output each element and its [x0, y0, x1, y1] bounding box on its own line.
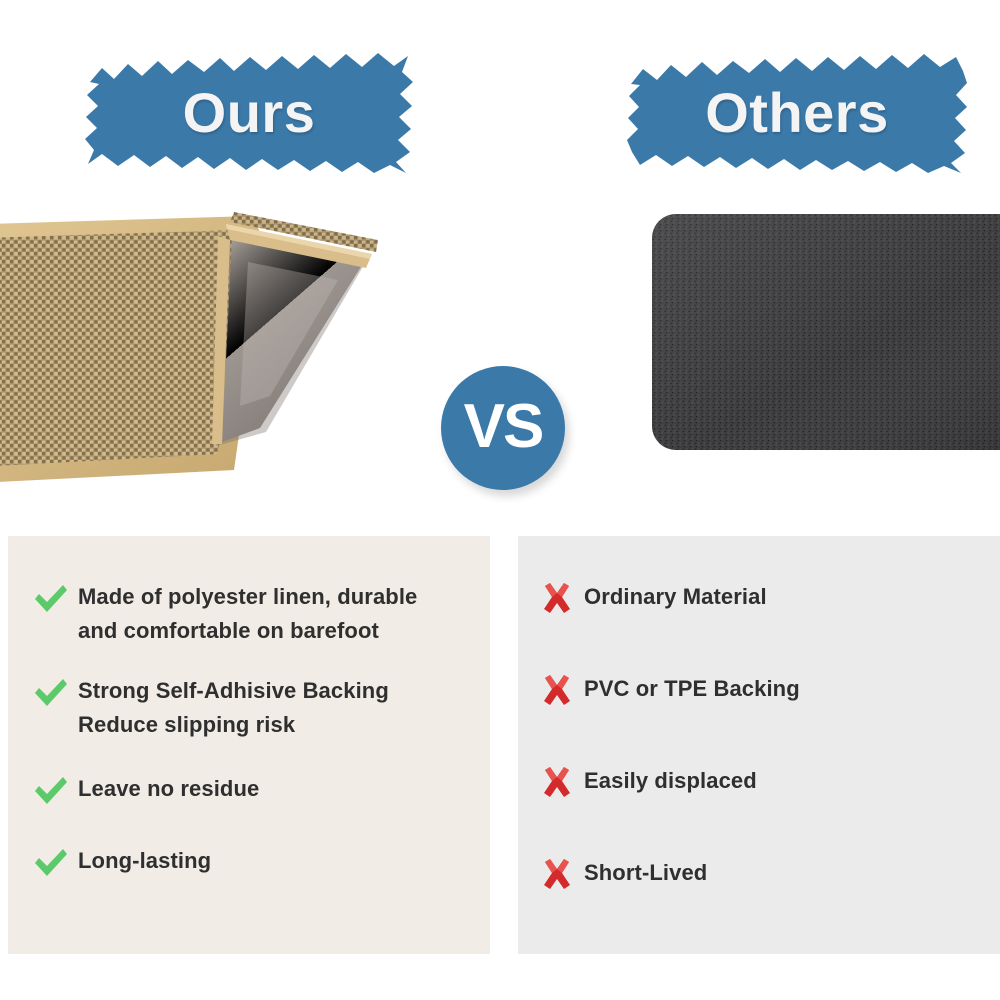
list-item: PVC or TPE Backing [538, 672, 976, 708]
comparison-infographic: Ours Others [0, 0, 1000, 1000]
check-icon [32, 774, 70, 808]
feature-list-others: Ordinary Material PVC or TPE Backing [538, 580, 976, 892]
cross-icon [538, 674, 576, 708]
cross-icon [538, 582, 576, 616]
feature-text: PVC or TPE Backing [584, 672, 800, 706]
product-image-others [652, 214, 1000, 450]
cross-icon [538, 858, 576, 892]
list-item: Ordinary Material [538, 580, 976, 616]
list-item: Easily displaced [538, 764, 976, 800]
banner-ours-label: Ours [183, 85, 316, 141]
banner-ours: Ours [84, 52, 414, 174]
list-item: Leave no residue [32, 772, 466, 808]
list-item: Strong Self-Adhisive Backing Reduce slip… [32, 674, 466, 742]
vs-badge-label: VS [464, 396, 543, 458]
product-image-ours [0, 196, 380, 488]
feature-text: Easily displaced [584, 764, 757, 798]
features-panel-ours: Made of polyester linen, durable and com… [8, 536, 490, 954]
feature-text: Ordinary Material [584, 580, 767, 614]
feature-text: Made of polyester linen, durable and com… [78, 580, 417, 648]
feature-list-ours: Made of polyester linen, durable and com… [32, 580, 466, 880]
features-panel-others: Ordinary Material PVC or TPE Backing [518, 536, 1000, 954]
check-icon [32, 676, 70, 710]
feature-text: Strong Self-Adhisive Backing Reduce slip… [78, 674, 389, 742]
list-item: Short-Lived [538, 856, 976, 892]
black-textured-mat-illustration [652, 214, 1000, 450]
check-icon [32, 846, 70, 880]
rug-with-folded-corner-illustration [0, 196, 380, 488]
cross-icon [538, 766, 576, 800]
list-item: Made of polyester linen, durable and com… [32, 580, 466, 648]
list-item: Long-lasting [32, 844, 466, 880]
banner-others-label: Others [705, 85, 889, 141]
feature-text: Short-Lived [584, 856, 707, 890]
check-icon [32, 582, 70, 616]
vs-badge: VS [441, 366, 565, 490]
feature-text: Long-lasting [78, 844, 211, 878]
banner-others: Others [626, 52, 968, 174]
feature-text: Leave no residue [78, 772, 259, 806]
